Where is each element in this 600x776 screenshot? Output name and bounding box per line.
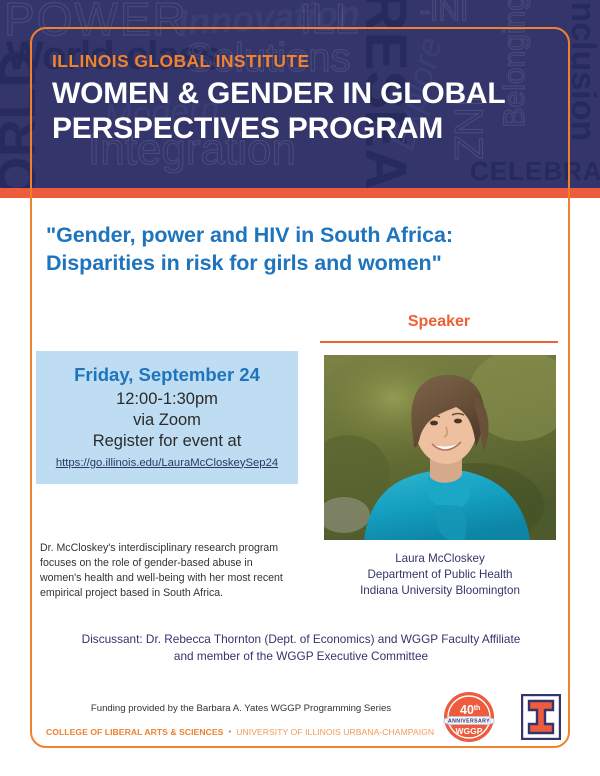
program-title-line1: WOMEN & GENDER IN GLOBAL [52,77,506,112]
wordcloud-word: ILL [300,0,358,40]
program-eyebrow: ILLINOIS GLOBAL INSTITUTE [52,52,506,71]
badge-suffix: th [474,705,481,712]
speaker-institution: Indiana University Bloomington [316,583,564,599]
wordcloud-word: Innovation [177,0,361,41]
badge-ribbon-text: ANNIVERSARY [448,719,490,725]
talk-title-line1: "Gender, power and HIV in South Africa: [46,222,556,250]
event-register-prompt: Register for event at [36,431,298,452]
wordcloud-word: WORLD [0,50,44,188]
funding-note: Funding provided by the Barbara A. Yates… [46,703,436,714]
unit-separator-icon: ▪ [223,727,236,736]
college-name: COLLEGE OF LIBERAL ARTS & SCIENCES [46,727,223,737]
event-time: 12:00-1:30pm [36,389,298,410]
event-platform: via Zoom [36,410,298,431]
wordcloud-word: CELEBRATION [470,158,600,184]
badge-number: 40 [460,703,474,717]
header-text-block: ILLINOIS GLOBAL INSTITUTE WOMEN & GENDER… [52,52,506,147]
program-title: WOMEN & GENDER IN GLOBAL PERSPECTIVES PR… [52,77,506,147]
speaker-bio: Dr. McCloskey's interdisciplinary resear… [40,541,294,601]
badge-org-text: WGGP [456,726,483,736]
speaker-department: Department of Public Health [316,567,564,583]
block-i-glyph [529,701,553,733]
speaker-section-rule [320,341,558,343]
speaker-photo [324,355,556,540]
university-name: UNIVERSITY OF ILLINOIS URBANA-CHAMPAIGN [236,727,434,737]
talk-title: "Gender, power and HIV in South Africa: … [46,222,556,277]
talk-title-line2: Disparities in risk for girls and women" [46,250,556,278]
speaker-details: Laura McCloskey Department of Public Hea… [316,551,564,599]
speaker-name: Laura McCloskey [316,551,564,567]
wggp-40th-anniversary-badge: 40 th ANNIVERSARY WGGP [443,691,495,743]
wordcloud-word: -INI [420,0,468,26]
event-flyer: POWER Innovation ILL RESEARCH -INI Belon… [0,0,600,776]
discussant-line2: and member of the WGGP Executive Committ… [46,648,556,665]
header-divider-bar [0,188,600,198]
discussant-note: Discussant: Dr. Rebecca Thornton (Dept. … [46,631,556,665]
event-date: Friday, September 24 [36,364,298,386]
event-register-link[interactable]: https://go.illinois.edu/LauraMcCloskeySe… [56,457,278,469]
discussant-line1: Discussant: Dr. Rebecca Thornton (Dept. … [46,631,556,648]
unit-attribution: COLLEGE OF LIBERAL ARTS & SCIENCES▪UNIVE… [46,727,434,737]
wordcloud-word: POWER [4,0,188,42]
illinois-block-i-logo [521,694,561,740]
speaker-section-label: Speaker [320,313,558,331]
program-title-line2: PERSPECTIVES PROGRAM [52,112,506,147]
event-details-box: Friday, September 24 12:00-1:30pm via Zo… [36,351,298,484]
header-banner: POWER Innovation ILL RESEARCH -INI Belon… [0,0,600,188]
wordcloud-word: Inclusion [566,0,600,141]
